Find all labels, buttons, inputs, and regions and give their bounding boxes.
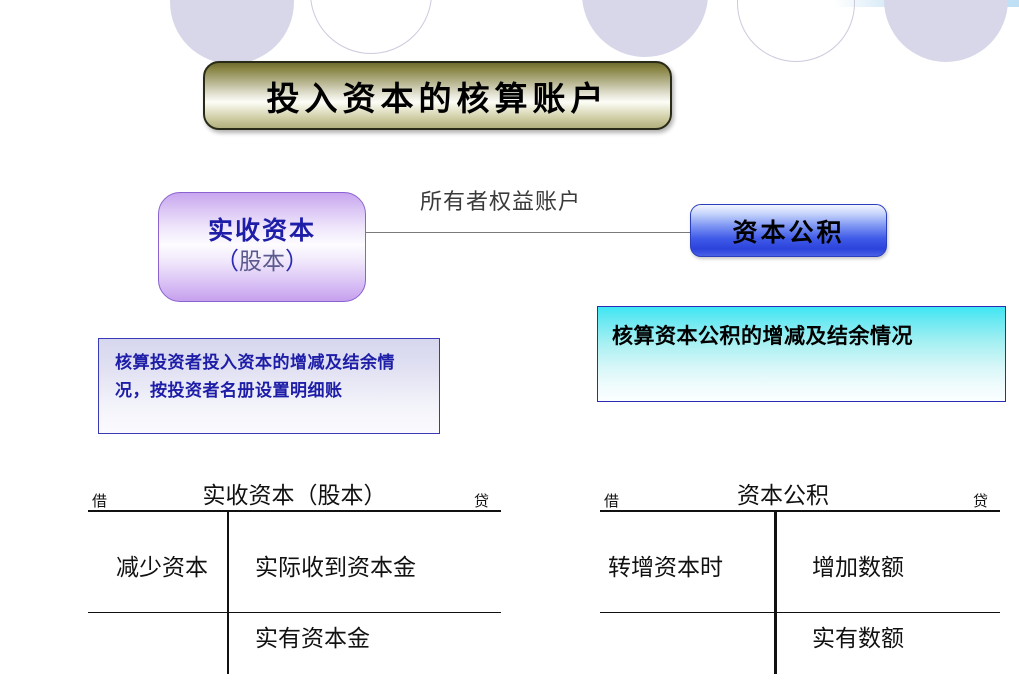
decorative-circle-1 [170, 0, 294, 64]
t-account-debit-label: 借 [604, 490, 619, 511]
slide-title-banner: 投入资本的核算账户 [203, 61, 672, 130]
t-account-debit-entry: 转增资本时 [608, 548, 723, 582]
t-account-credit-entry: 实际收到资本金 [255, 548, 416, 582]
page-title: 投入资本的核算账户 [267, 72, 609, 120]
t-account-title: 资本公积 [566, 476, 1000, 510]
t-account-capital-surplus: 资本公积 借 贷 转增资本时 增加数额 实有数额 [600, 476, 1000, 671]
t-account-header: 实收资本（股本） 借 贷 [88, 476, 501, 510]
decorative-circle-4 [737, 0, 855, 62]
t-account-balance-entry: 实有数额 [812, 619, 904, 653]
node-capital-surplus[interactable]: 资本公积 [690, 204, 887, 257]
node-paid-in-capital[interactable]: 实收资本 （股本） [158, 192, 366, 302]
decorative-circle-2 [310, 0, 432, 54]
info-box-paid-in-capital-text: 核算投资者投入资本的增减及结余情况，按投资者名册设置明细账 [115, 350, 425, 405]
t-account-footer: 实有数额 [600, 613, 1000, 671]
t-account-debit-label: 借 [92, 490, 107, 511]
decorative-circle-3 [582, 0, 708, 57]
t-account-title: 实收资本（股本） [88, 476, 501, 510]
node-paid-in-capital-line2: （股本） [215, 247, 309, 277]
node-capital-surplus-label: 资本公积 [732, 213, 844, 249]
t-account-body: 转增资本时 增加数额 [600, 512, 1000, 612]
branch-label: 所有者权益账户 [420, 184, 581, 216]
info-box-capital-surplus: 核算资本公积的增减及结余情况 [597, 306, 1006, 402]
paren-open: （ [215, 248, 239, 275]
t-account-paid-in-capital: 实收资本（股本） 借 贷 减少资本 实际收到资本金 实有资本金 [88, 476, 501, 671]
node-paid-in-capital-line1: 实收资本 [208, 217, 316, 246]
paren-close: ） [285, 248, 309, 275]
t-account-body: 减少资本 实际收到资本金 [88, 512, 501, 612]
slide-canvas: 投入资本的核算账户 所有者权益账户 实收资本 （股本） 资本公积 核算投资者投入… [0, 0, 1019, 684]
t-account-debit-entry: 减少资本 [116, 548, 208, 582]
connector-line [362, 232, 692, 233]
top-blue-band [834, 0, 1019, 7]
t-account-balance-entry: 实有资本金 [255, 619, 370, 653]
info-box-paid-in-capital: 核算投资者投入资本的增减及结余情况，按投资者名册设置明细账 [98, 338, 440, 434]
info-box-capital-surplus-text: 核算资本公积的增减及结余情况 [612, 319, 993, 353]
t-account-footer: 实有资本金 [88, 613, 501, 671]
t-account-credit-entry: 增加数额 [812, 548, 904, 582]
t-account-credit-label: 贷 [474, 490, 489, 511]
t-account-credit-label: 贷 [973, 490, 988, 511]
node-paid-in-capital-alt: 股本 [239, 248, 285, 274]
decorative-circle-5 [884, 0, 1008, 62]
t-account-header: 资本公积 借 贷 [600, 476, 1000, 510]
